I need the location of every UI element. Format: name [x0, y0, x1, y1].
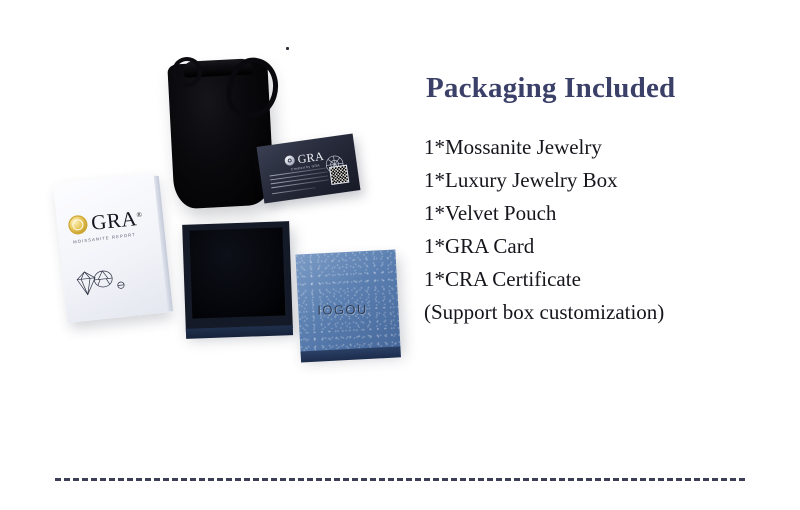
jewelry-box-velvet-interior — [189, 227, 285, 318]
packaging-text-column: Packaging Included 1*Mossanite Jewelry 1… — [424, 72, 764, 329]
certificate-registered-mark: ® — [136, 211, 143, 220]
gra-card-qr-code — [329, 165, 349, 185]
page-title: Packaging Included — [426, 72, 764, 105]
certificate-brand-text: GRA — [90, 206, 138, 235]
gra-card-seal-icon — [284, 155, 295, 166]
jewelry-box-base-rim — [186, 325, 293, 339]
list-item: 1*Luxury Jewelry Box — [424, 164, 764, 197]
lid-brand-logo: IOGOU — [317, 302, 368, 318]
list-item: (Support box customization) — [424, 296, 764, 329]
list-item: 1*Velvet Pouch — [424, 197, 764, 230]
list-item: 1*Mossanite Jewelry — [424, 131, 764, 164]
list-item: 1*GRA Card — [424, 230, 764, 263]
image-speck-artifact — [286, 47, 289, 50]
gold-seal-icon — [67, 214, 88, 235]
list-item: 1*CRA Certificate — [424, 263, 764, 296]
packaging-included-panel: GRA® MOISSANITE REPORT IOGOU — [0, 0, 800, 510]
packaging-product-photo: GRA® MOISSANITE REPORT IOGOU — [60, 30, 390, 380]
gra-card-brand: GRA — [297, 150, 325, 166]
gra-certificate-booklet: GRA® MOISSANITE REPORT — [53, 173, 169, 323]
dashed-divider — [55, 478, 745, 481]
diamond-illustration-icon — [72, 264, 131, 300]
certificate-brand: GRA® — [90, 208, 144, 234]
jewelry-box-base — [182, 221, 293, 332]
certificate-page-edge — [154, 176, 173, 312]
gra-card: GRA Created by GRA — [257, 134, 361, 204]
gra-card-fine-print — [270, 167, 330, 191]
lid-texture-surface: IOGOU — [295, 249, 400, 354]
jewelry-box-lid: IOGOU — [295, 249, 400, 354]
